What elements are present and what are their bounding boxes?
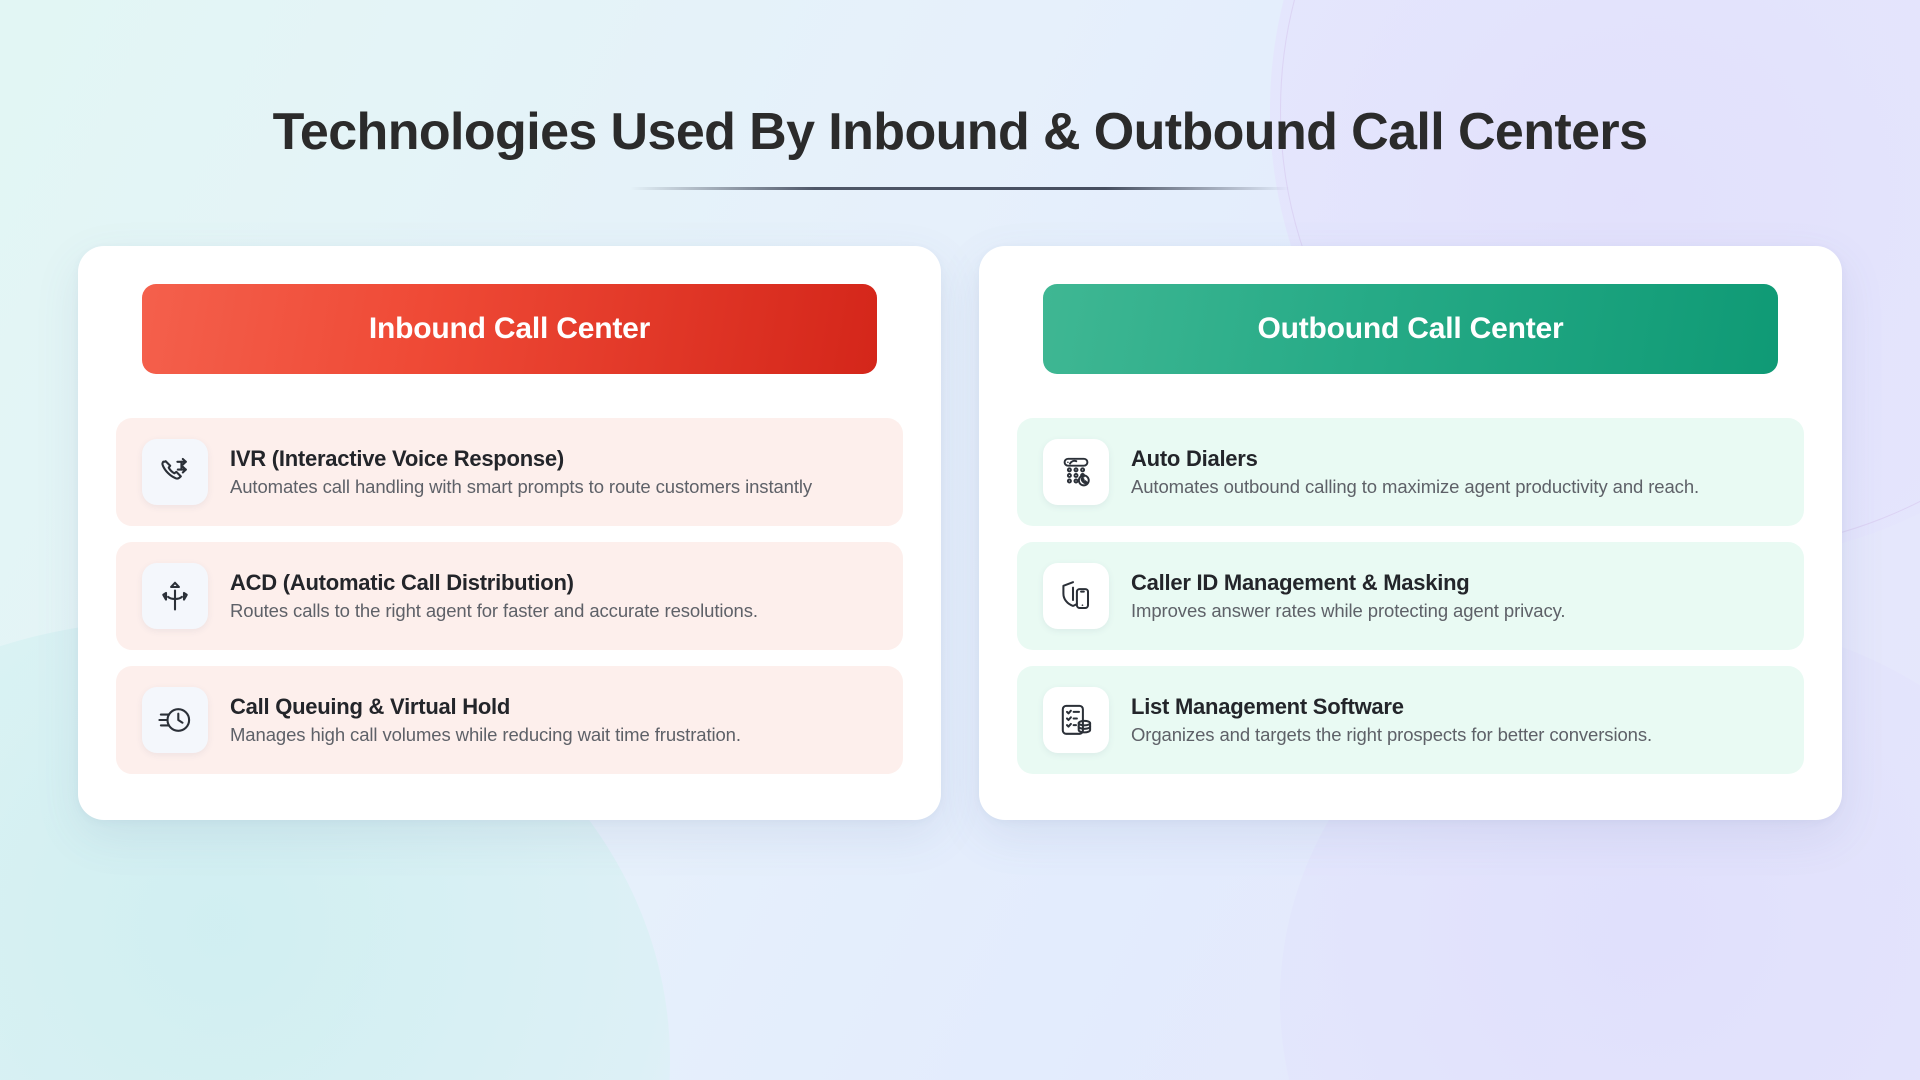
list-item-description: Routes calls to the right agent for fast… (230, 599, 758, 624)
pill-outbound-call-center[interactable]: Outbound Call Center (1043, 284, 1778, 374)
list-item-text: IVR (Interactive Voice Response) Automat… (230, 445, 812, 500)
list-item-text: Auto Dialers Automates outbound calling … (1131, 445, 1699, 500)
list-item-title: IVR (Interactive Voice Response) (230, 445, 812, 473)
list-item-title: Caller ID Management & Masking (1131, 569, 1565, 597)
list-item[interactable]: Auto Dialers Automates outbound calling … (1017, 418, 1804, 526)
list-item[interactable]: Call Queuing & Virtual Hold Manages high… (116, 666, 903, 774)
list-item-text: List Management Software Organizes and t… (1131, 693, 1652, 748)
list-item-description: Manages high call volumes while reducing… (230, 723, 741, 748)
list-item-title: List Management Software (1131, 693, 1652, 721)
pill-inbound-call-center[interactable]: Inbound Call Center (142, 284, 877, 374)
list-item-text: Caller ID Management & Masking Improves … (1131, 569, 1565, 624)
shield-phone-icon (1043, 563, 1109, 629)
list-item-title: Call Queuing & Virtual Hold (230, 693, 741, 721)
title-underline-rule (630, 187, 1290, 190)
outbound-item-list: Auto Dialers Automates outbound calling … (1017, 418, 1804, 774)
dial-pad-phone-icon (1043, 439, 1109, 505)
list-item-title: Auto Dialers (1131, 445, 1699, 473)
list-item-description: Automates call handling with smart promp… (230, 475, 812, 500)
clock-speed-icon (142, 687, 208, 753)
pill-outbound-label: Outbound Call Center (1258, 312, 1564, 346)
page-title: Technologies Used By Inbound & Outbound … (0, 104, 1920, 161)
list-item-text: ACD (Automatic Call Distribution) Routes… (230, 569, 758, 624)
card-outbound-call-center: Outbound Call Center (979, 246, 1842, 820)
comparison-columns: Inbound Call Center IVR (Interactive Voi… (0, 246, 1920, 820)
list-item[interactable]: IVR (Interactive Voice Response) Automat… (116, 418, 903, 526)
list-item[interactable]: List Management Software Organizes and t… (1017, 666, 1804, 774)
list-item[interactable]: Caller ID Management & Masking Improves … (1017, 542, 1804, 650)
inbound-item-list: IVR (Interactive Voice Response) Automat… (116, 418, 903, 774)
phone-voice-routing-icon (142, 439, 208, 505)
pill-inbound-label: Inbound Call Center (369, 312, 650, 346)
list-item-description: Improves answer rates while protecting a… (1131, 599, 1565, 624)
call-routing-arrows-icon (142, 563, 208, 629)
list-item-description: Automates outbound calling to maximize a… (1131, 475, 1699, 500)
page-header: Technologies Used By Inbound & Outbound … (0, 0, 1920, 190)
list-item-title: ACD (Automatic Call Distribution) (230, 569, 758, 597)
list-item[interactable]: ACD (Automatic Call Distribution) Routes… (116, 542, 903, 650)
list-item-description: Organizes and targets the right prospect… (1131, 723, 1652, 748)
list-item-text: Call Queuing & Virtual Hold Manages high… (230, 693, 741, 748)
checklist-database-icon (1043, 687, 1109, 753)
card-inbound-call-center: Inbound Call Center IVR (Interactive Voi… (78, 246, 941, 820)
